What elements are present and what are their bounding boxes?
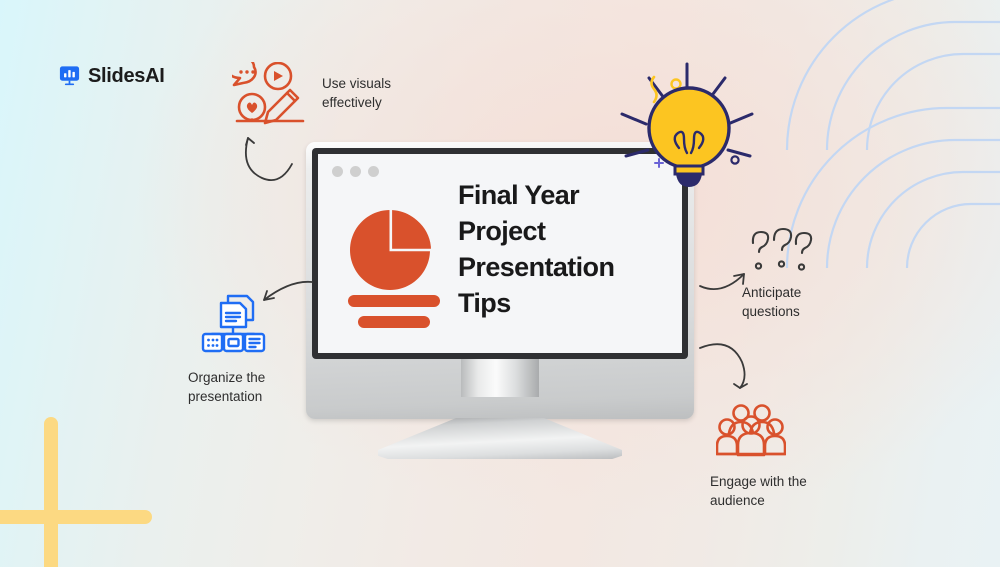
window-dots: [332, 166, 379, 177]
tip-engage-audience[interactable]: Engage with the audience: [710, 404, 870, 510]
tip-label: Organize the presentation: [188, 369, 318, 406]
window-dot: [350, 166, 361, 177]
pie-chart-graphic: [346, 209, 438, 291]
document-hierarchy-icon: [200, 292, 280, 354]
curved-arrow-to-engage: [696, 338, 758, 394]
tip-anticipate-questions[interactable]: Anticipate questions: [742, 227, 882, 321]
slides-presentation-icon: [58, 64, 81, 87]
plus-horizontal-bar: [0, 510, 152, 524]
tip-label: Anticipate questions: [742, 284, 862, 321]
tip-organize-presentation[interactable]: Organize the presentation: [188, 292, 338, 406]
slide-canvas: SlidesAI Fin: [0, 0, 1000, 567]
plus-vertical-bar: [44, 417, 58, 567]
monitor-neck: [461, 359, 539, 397]
curved-arrow-to-visuals: [236, 132, 306, 188]
lightbulb-idea-icon: [616, 56, 758, 196]
brand-logo[interactable]: SlidesAI: [58, 64, 165, 87]
plus-shape-decoration: [0, 417, 152, 567]
audience-group-icon: [716, 404, 786, 458]
slide-bar-graphic: [358, 316, 430, 328]
tip-label: Engage with the audience: [710, 473, 840, 510]
brand-name: SlidesAI: [88, 66, 165, 86]
question-marks-icon: [748, 227, 816, 273]
visual-media-pencil-icon: [232, 62, 310, 126]
monitor-base: [378, 418, 622, 459]
slide-title: Final Year Project Presentation Tips: [458, 178, 673, 322]
window-dot: [332, 166, 343, 177]
window-dot: [368, 166, 379, 177]
slide-bar-graphic: [348, 295, 440, 307]
tip-label: Use visuals effectively: [322, 75, 418, 112]
tip-use-visuals[interactable]: Use visuals effectively: [232, 62, 418, 126]
